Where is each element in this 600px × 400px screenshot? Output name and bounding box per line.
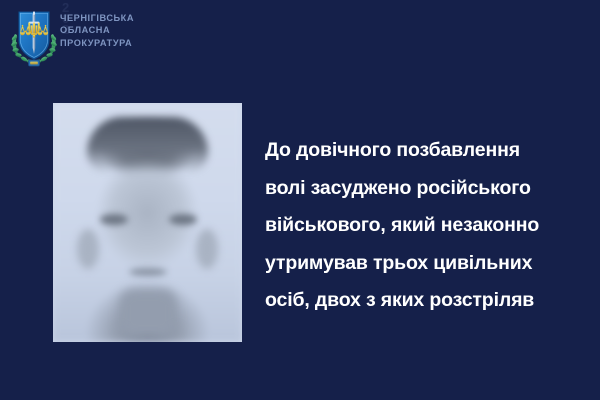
headline-line-5: осіб, двох з яких розстріляв (265, 282, 585, 320)
news-card: 2 0 2 (0, 0, 600, 400)
portrait-ear-right (196, 229, 218, 269)
headline-line-4: утримував трьох цивільних (265, 245, 585, 283)
portrait-ear-left (77, 229, 99, 269)
org-name-line-2: ОБЛАСНА (60, 24, 230, 36)
portrait-hair-region (87, 117, 208, 173)
organization-name: ЧЕРНІГІВСЬКА ОБЛАСНА ПРОКУРАТУРА (60, 12, 230, 49)
header-bar: 2 0 2 (0, 0, 600, 72)
portrait-mouth (129, 268, 167, 276)
headline-line-3: військового, який незаконно (265, 207, 585, 245)
portrait-camouflage-garment (53, 309, 242, 342)
headline-line-1: До довічного позбавлення (265, 132, 585, 170)
headline-text: До довічного позбавлення волі засуджено … (265, 132, 585, 320)
org-name-line-1: ЧЕРНІГІВСЬКА (60, 12, 230, 24)
portrait-eye-left (100, 214, 128, 225)
convicted-person-portrait (53, 103, 242, 342)
portrait-eye-right (169, 214, 197, 225)
headline-line-2: волі засуджено російського (265, 170, 585, 208)
org-name-line-3: ПРОКУРАТУРА (60, 37, 230, 49)
prosecutor-office-emblem-icon (8, 4, 60, 68)
